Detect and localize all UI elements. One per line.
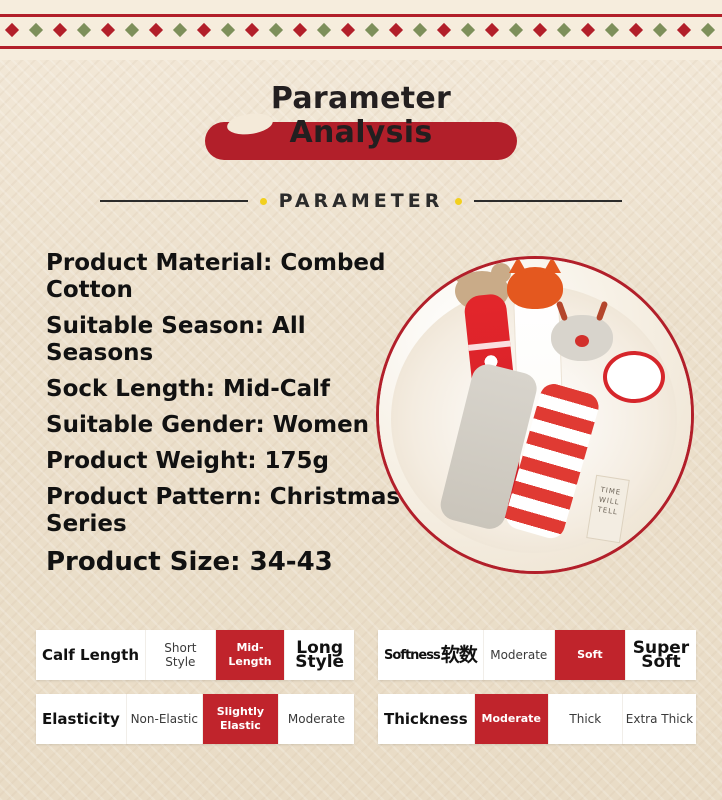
top-decorative-band — [0, 0, 722, 60]
parameter-item: Product Weight: 175g — [46, 448, 406, 475]
santa-sock-head-icon — [603, 351, 665, 403]
scale-elasticity: Elasticity Non-Elastic Slightly Elastic … — [36, 694, 354, 744]
scale-label: Softness软数 — [378, 630, 483, 680]
subtitle-dot-left — [260, 198, 267, 205]
scale-option[interactable]: Short Style — [145, 630, 215, 680]
parameter-item: Product Size: 34-43 — [46, 547, 406, 577]
title-line-1: Parameter — [0, 82, 722, 116]
parameter-item: Product Material: Combed Cotton — [46, 250, 406, 304]
parameter-item: Sock Length: Mid-Calf — [46, 376, 406, 403]
subtitle-dot-right — [455, 198, 462, 205]
fox-sock-head-icon — [507, 267, 563, 309]
scale-option-selected[interactable]: Moderate — [474, 694, 548, 744]
scale-option[interactable]: Moderate — [483, 630, 554, 680]
subtitle-text: PARAMETER — [279, 190, 444, 212]
scale-label: Calf Length — [36, 630, 145, 680]
photo-tag-text: TIME WILL TELL — [591, 484, 627, 519]
diamond-pattern — [0, 20, 722, 40]
scale-option[interactable]: Extra Thick — [622, 694, 696, 744]
title-line-2: Analysis — [0, 116, 722, 150]
scale-option-selected[interactable]: Mid-Length — [215, 630, 285, 680]
product-photo: TIME WILL TELL — [376, 256, 694, 574]
parameter-item: Product Pattern: Christmas Series — [46, 484, 406, 538]
subtitle-rule-right — [474, 200, 622, 202]
reindeer-sock-head-icon — [551, 315, 613, 361]
scale-softness: Softness软数 Moderate Soft Super Soft — [378, 630, 696, 680]
scale-calf-length: Calf Length Short Style Mid-Length Long … — [36, 630, 354, 680]
scale-option[interactable]: Long Style — [284, 630, 354, 680]
scale-label: Thickness — [378, 694, 474, 744]
scale-label-en: Softness — [384, 647, 440, 664]
band-line-top — [0, 14, 722, 17]
scale-option-selected[interactable]: Slightly Elastic — [202, 694, 278, 744]
page-title: Parameter Analysis — [0, 82, 722, 150]
parameter-item: Suitable Gender: Women — [46, 412, 406, 439]
parameter-list: Product Material: Combed Cotton Suitable… — [46, 250, 406, 586]
spec-scales: Calf Length Short Style Mid-Length Long … — [36, 630, 696, 758]
spec-row-2: Elasticity Non-Elastic Slightly Elastic … — [36, 694, 696, 744]
scale-option-selected[interactable]: Soft — [554, 630, 625, 680]
spec-row-1: Calf Length Short Style Mid-Length Long … — [36, 630, 696, 680]
band-line-bottom — [0, 46, 722, 49]
scale-label-cn: 软数 — [441, 647, 477, 664]
scale-thickness: Thickness Moderate Thick Extra Thick — [378, 694, 696, 744]
scale-option[interactable]: Moderate — [278, 694, 354, 744]
photo-backdrop: TIME WILL TELL — [379, 259, 691, 571]
scale-option[interactable]: Non-Elastic — [126, 694, 202, 744]
parameter-item: Suitable Season: All Seasons — [46, 313, 406, 367]
scale-option[interactable]: Thick — [548, 694, 622, 744]
scale-label: Elasticity — [36, 694, 126, 744]
subtitle-row: PARAMETER — [0, 186, 722, 216]
subtitle-rule-left — [100, 200, 248, 202]
scale-option[interactable]: Super Soft — [625, 630, 696, 680]
